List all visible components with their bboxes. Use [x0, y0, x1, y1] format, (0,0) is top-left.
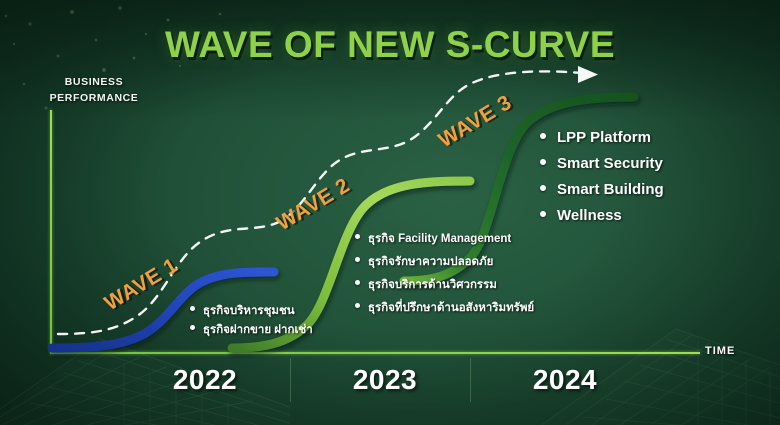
list-item-label: ธุรกิจที่ปรึกษาด้านอสังหาริมทรัพย์: [368, 299, 534, 317]
trend-arrowhead-icon: [578, 66, 598, 83]
bullet-dot-icon: [190, 306, 195, 311]
wave-label-1: WAVE 1: [101, 254, 183, 316]
list-item-label: LPP Platform: [557, 129, 651, 146]
y-axis-label: BUSINESS PERFORMANCE: [34, 74, 154, 106]
wave-3-feature-list: LPP Platform Smart Security Smart Buildi…: [540, 129, 664, 233]
list-item-label: Wellness: [557, 207, 622, 224]
list-item: ธุรกิจบริหารชุมชน: [190, 302, 313, 321]
list-item-label: ธุรกิจ Facility Management: [368, 230, 511, 248]
bullet-dot-icon: [540, 185, 546, 191]
list-item: Smart Building: [540, 181, 664, 207]
list-item: ธุรกิจที่ปรึกษาด้านอสังหาริมทรัพย์: [355, 299, 534, 322]
year-divider: [470, 358, 471, 402]
x-axis-line: [50, 352, 700, 354]
bullet-dot-icon: [540, 133, 546, 139]
bullet-dot-icon: [355, 303, 360, 308]
list-item-label: ธุรกิจบริหารชุมชน: [203, 302, 295, 320]
bullet-dot-icon: [540, 159, 546, 165]
year-label-2023: 2023: [305, 364, 465, 396]
bullet-dot-icon: [355, 234, 360, 239]
list-item-label: Smart Building: [557, 181, 664, 198]
list-item-label: Smart Security: [557, 155, 663, 172]
list-item: ธุรกิจฝากขาย ฝากเช่า: [190, 321, 313, 340]
list-item: Wellness: [540, 207, 664, 233]
wave-2-feature-list: ธุรกิจ Facility Management ธุรกิจรักษาคว…: [355, 230, 534, 322]
list-item: LPP Platform: [540, 129, 664, 155]
list-item: ธุรกิจบริการด้านวิศวกรรม: [355, 276, 534, 299]
bullet-dot-icon: [190, 325, 195, 330]
bullet-dot-icon: [540, 211, 546, 217]
wave-label-2: WAVE 2: [273, 174, 355, 236]
y-axis-label-line2: PERFORMANCE: [34, 90, 154, 106]
slide-canvas: WAVE OF NEW S-CURVE BUSINESS PERFORMANCE…: [0, 0, 780, 425]
y-axis-label-line1: BUSINESS: [34, 74, 154, 90]
wave-label-3: WAVE 3: [435, 91, 517, 153]
year-label-2024: 2024: [485, 364, 645, 396]
list-item-label: ธุรกิจรักษาความปลอดภัย: [368, 253, 493, 271]
year-divider: [290, 358, 291, 402]
y-axis-line: [50, 110, 52, 354]
list-item: ธุรกิจรักษาความปลอดภัย: [355, 253, 534, 276]
year-label-2022: 2022: [125, 364, 285, 396]
list-item: ธุรกิจ Facility Management: [355, 230, 534, 253]
bullet-dot-icon: [355, 257, 360, 262]
list-item-label: ธุรกิจบริการด้านวิศวกรรม: [368, 276, 497, 294]
x-axis-label: TIME: [705, 345, 735, 357]
list-item-label: ธุรกิจฝากขาย ฝากเช่า: [203, 321, 313, 339]
list-item: Smart Security: [540, 155, 664, 181]
wave-1-feature-list: ธุรกิจบริหารชุมชน ธุรกิจฝากขาย ฝากเช่า: [190, 302, 313, 340]
page-title: WAVE OF NEW S-CURVE: [0, 24, 780, 66]
bullet-dot-icon: [355, 280, 360, 285]
